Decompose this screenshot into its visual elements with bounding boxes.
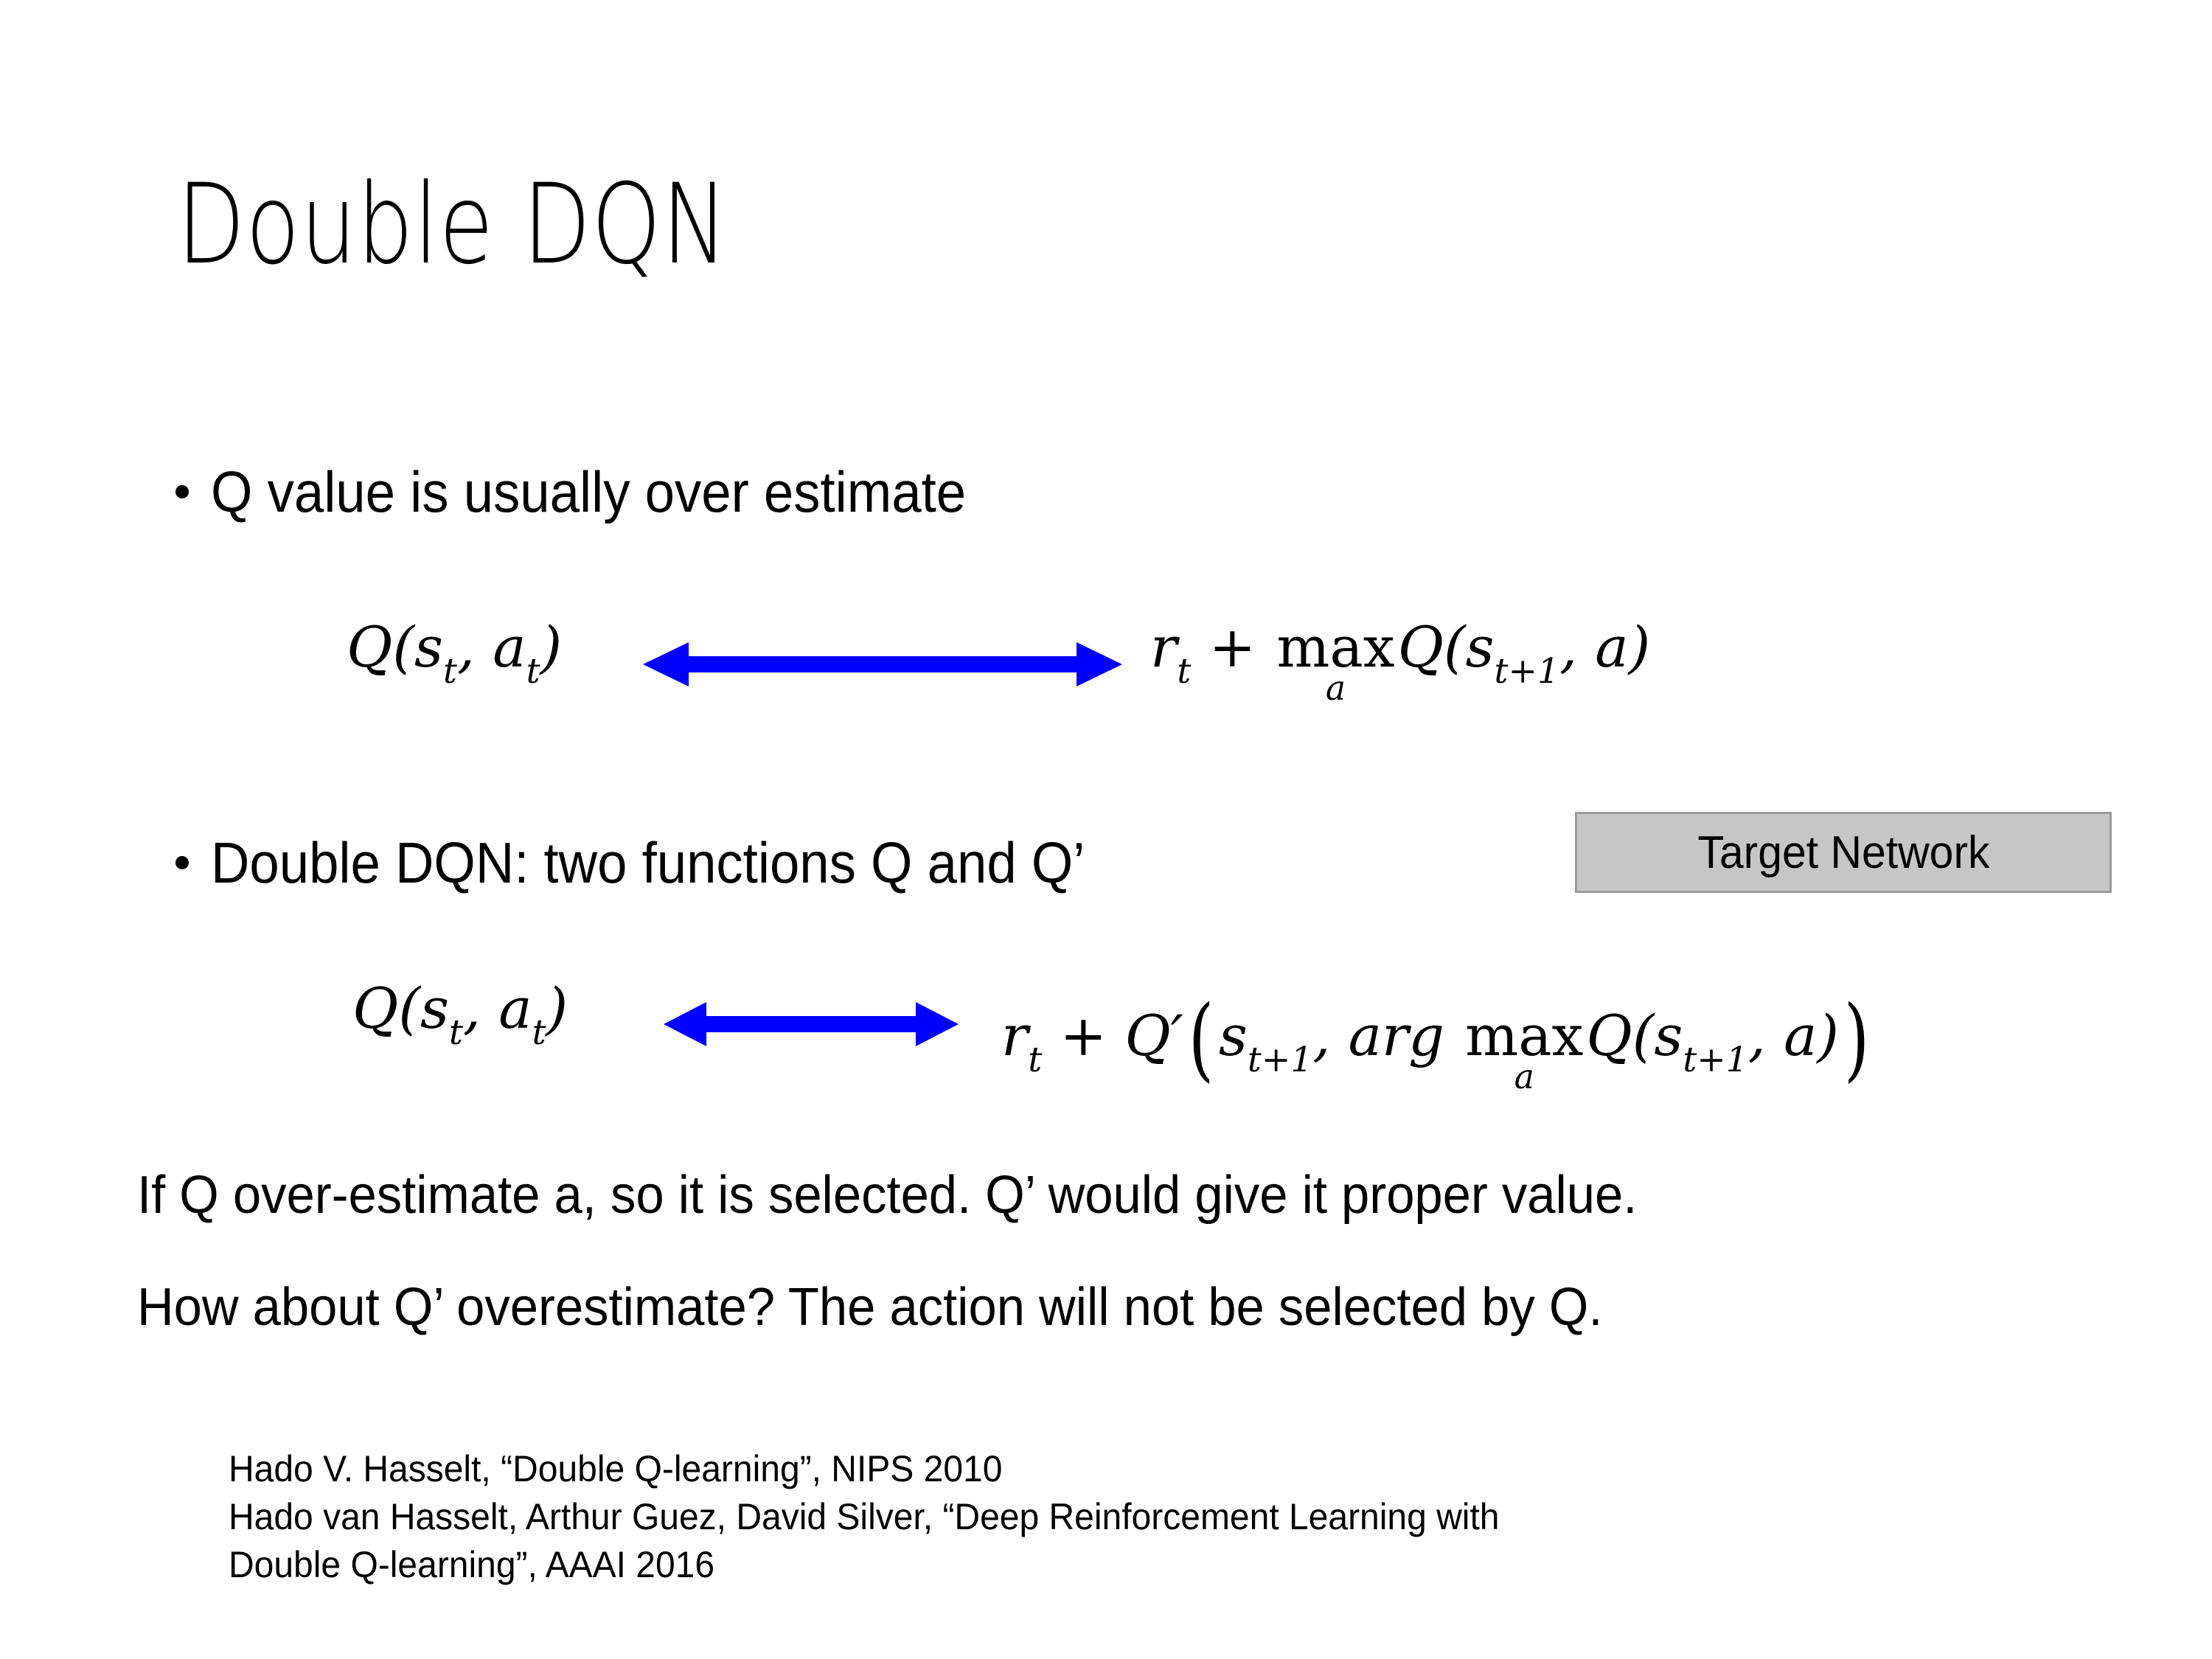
eq1-q-function: Q bbox=[347, 614, 392, 680]
bullet-item-double-dqn: Double DQN: two functions Q and Q’ bbox=[175, 829, 1151, 897]
explanation-line-1: If Q over-estimate a, so it is selected.… bbox=[137, 1165, 1708, 1225]
eq2-inner-q-function: Q bbox=[1586, 1003, 1632, 1068]
bullet-dot-icon bbox=[175, 485, 189, 498]
eq1-rhs-action: a bbox=[1595, 614, 1628, 680]
eq2-action-subscript: t bbox=[532, 1012, 546, 1053]
bullet-label: Double DQN: two functions Q and Q’ bbox=[211, 829, 1085, 897]
eq1-action: a bbox=[493, 614, 526, 680]
eq1-action-subscript: t bbox=[526, 651, 540, 692]
eq1-reward-subscript: t bbox=[1177, 651, 1191, 692]
eq2-action: a bbox=[498, 975, 532, 1041]
eq1-open-paren: ( bbox=[392, 614, 414, 680]
eq2-comma: , bbox=[1312, 1003, 1330, 1068]
page-title: Double DQN bbox=[177, 170, 728, 280]
eq2-max-limit: a bbox=[1514, 1061, 1534, 1093]
eq2-inner-state: s bbox=[1654, 1003, 1683, 1068]
eq1-rhs-q-function: Q bbox=[1398, 614, 1444, 680]
eq1-rhs-state-subscript: t+1 bbox=[1495, 651, 1559, 692]
equation-1-left-side: Q(st, at) bbox=[347, 619, 562, 684]
citation-line: Hado V. Hasselt, “Double Q-learning”, NI… bbox=[229, 1445, 1500, 1493]
double-headed-arrow-icon-2 bbox=[664, 1000, 959, 1048]
eq2-state-subscript: t+1 bbox=[1248, 1040, 1312, 1080]
eq1-max-label: max bbox=[1276, 621, 1394, 674]
slide-canvas: Double DQN Q value is usually over estim… bbox=[0, 0, 2212, 1659]
bullet-label: Q value is usually over estimate bbox=[211, 459, 966, 526]
eq1-rhs-comma: , bbox=[1559, 614, 1577, 680]
eq2-state: s bbox=[1219, 1003, 1248, 1068]
eq2-open-paren: ( bbox=[398, 975, 420, 1041]
eq1-rhs-state: s bbox=[1466, 614, 1495, 680]
eq2-inner-open-paren: ( bbox=[1632, 1003, 1655, 1068]
eq2-target-q-function: Q′ bbox=[1124, 1003, 1183, 1068]
target-network-callout: Target Network bbox=[1575, 812, 2112, 893]
explanation-line-2: How about Q’ overestimate? The action wi… bbox=[137, 1277, 1672, 1338]
citation-block: Hado V. Hasselt, “Double Q-learning”, NI… bbox=[229, 1445, 1552, 1589]
eq2-comma: , bbox=[463, 975, 481, 1041]
eq1-plus-operator: + bbox=[1208, 614, 1256, 680]
eq2-arg-label: arg bbox=[1349, 1003, 1444, 1068]
citation-line: Hado van Hasselt, Arthur Guez, David Sil… bbox=[229, 1493, 1500, 1541]
eq2-max-operator: max a bbox=[1465, 1009, 1583, 1093]
eq1-state-subscript: t bbox=[443, 651, 457, 692]
eq2-state: s bbox=[420, 975, 449, 1041]
eq2-inner-close-paren: ) bbox=[1817, 1003, 1839, 1068]
eq2-reward: r bbox=[1001, 1003, 1028, 1068]
explanation-text: How about Q’ overestimate? The action wi… bbox=[137, 1277, 1602, 1338]
eq1-state: s bbox=[414, 614, 443, 680]
eq1-close-paren: ) bbox=[540, 614, 563, 680]
equation-2-left-side: Q(st, at) bbox=[352, 981, 568, 1046]
eq2-big-close-paren: ) bbox=[1844, 994, 1870, 1085]
eq2-close-paren: ) bbox=[546, 975, 568, 1041]
double-headed-arrow-icon-1 bbox=[643, 640, 1122, 689]
eq1-max-operator: max a bbox=[1276, 621, 1394, 705]
eq1-max-limit: a bbox=[1326, 672, 1346, 704]
citation-line: Double Q-learning”, AAAI 2016 bbox=[229, 1541, 1500, 1589]
target-network-label: Target Network bbox=[1697, 827, 1989, 879]
eq2-max-label: max bbox=[1465, 1009, 1583, 1062]
eq2-inner-state-subscript: t+1 bbox=[1683, 1040, 1747, 1080]
eq2-inner-comma: , bbox=[1748, 1003, 1766, 1068]
eq1-comma: , bbox=[457, 614, 475, 680]
bullet-dot-icon bbox=[175, 856, 189, 869]
eq1-rhs-open-paren: ( bbox=[1444, 614, 1466, 680]
equation-2-right-side: rt + Q′(st+1, arg max a Q(st+1, a)) bbox=[1001, 979, 1874, 1093]
eq2-inner-action: a bbox=[1784, 1003, 1817, 1068]
explanation-text: If Q over-estimate a, so it is selected.… bbox=[137, 1165, 1637, 1225]
eq2-plus-operator: + bbox=[1060, 1003, 1107, 1068]
bullet-item-q-overestimate: Q value is usually over estimate bbox=[175, 459, 1023, 526]
eq1-rhs-close-paren: ) bbox=[1629, 614, 1651, 680]
eq2-big-open-paren: ( bbox=[1189, 994, 1214, 1085]
equation-1-right-side: rt + max a Q(st+1, a) bbox=[1150, 619, 1650, 705]
eq2-q-function: Q bbox=[352, 975, 398, 1041]
eq2-state-subscript: t bbox=[449, 1012, 463, 1053]
eq1-reward: r bbox=[1150, 614, 1177, 680]
eq2-reward-subscript: t bbox=[1028, 1040, 1042, 1080]
